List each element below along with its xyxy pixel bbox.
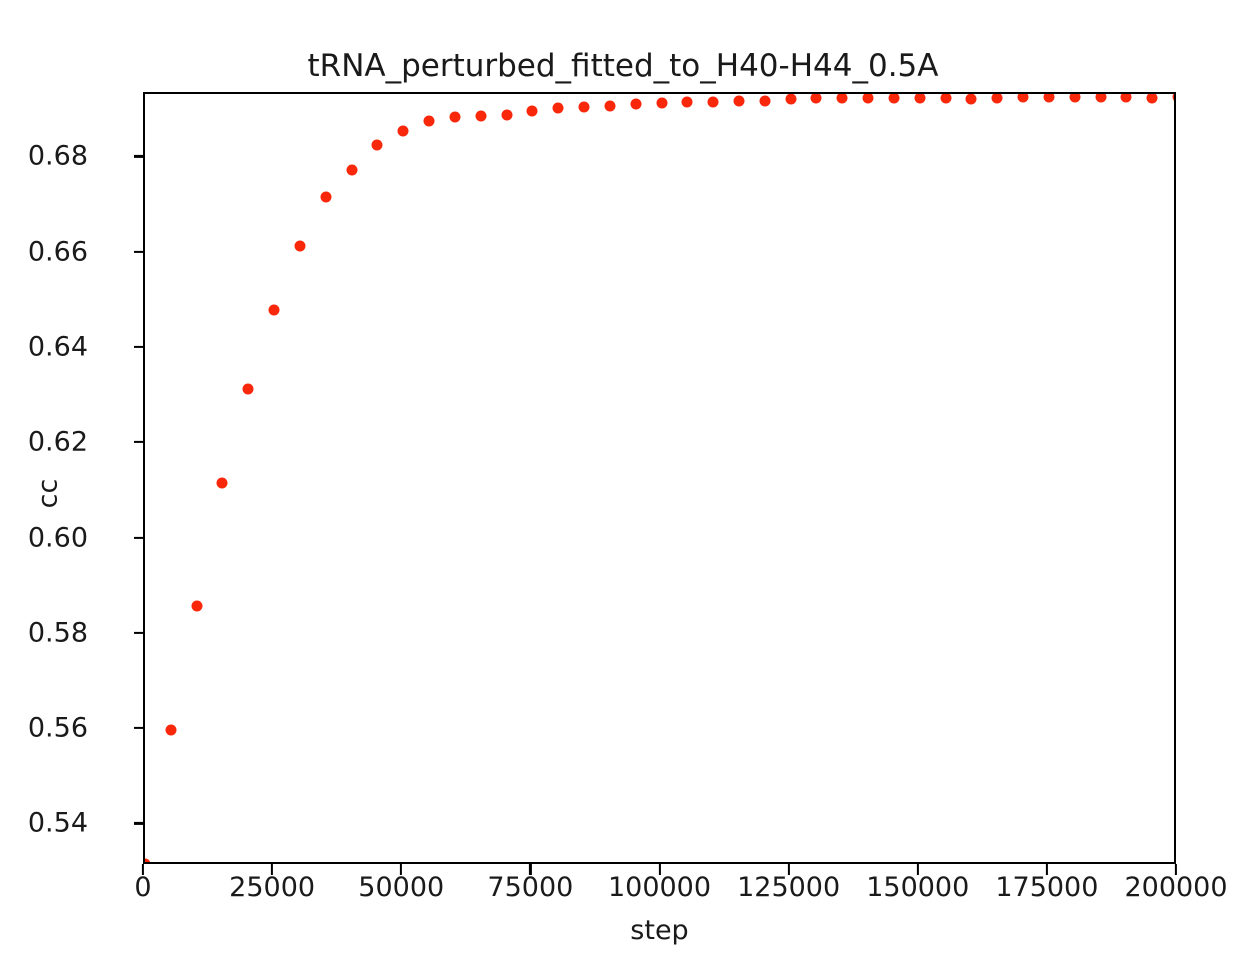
figure-canvas: tRNA_perturbed_fitted_to_H40-H44_0.5A cc… bbox=[0, 0, 1246, 965]
data-point bbox=[398, 126, 409, 137]
data-point bbox=[191, 600, 202, 611]
data-point bbox=[966, 93, 977, 104]
data-point bbox=[346, 165, 357, 176]
x-tick-mark bbox=[658, 864, 660, 875]
x-tick-label: 75000 bbox=[487, 872, 573, 903]
data-point bbox=[527, 105, 538, 116]
y-tick-mark bbox=[134, 822, 145, 824]
data-point bbox=[863, 92, 874, 103]
data-point bbox=[992, 92, 1003, 103]
y-tick-label: 0.54 bbox=[0, 808, 88, 839]
data-point bbox=[143, 858, 151, 864]
data-point bbox=[294, 240, 305, 251]
x-tick-mark bbox=[1046, 864, 1048, 875]
chart-title: tRNA_perturbed_fitted_to_H40-H44_0.5A bbox=[0, 48, 1246, 84]
data-point bbox=[1043, 92, 1054, 103]
data-point bbox=[708, 96, 719, 107]
y-tick-label: 0.60 bbox=[0, 522, 88, 553]
data-point bbox=[424, 115, 435, 126]
data-point bbox=[243, 383, 254, 394]
data-point bbox=[656, 97, 667, 108]
x-tick-label: 200000 bbox=[1124, 872, 1227, 903]
data-point bbox=[914, 92, 925, 103]
y-tick-mark bbox=[134, 727, 145, 729]
x-tick-label: 50000 bbox=[358, 872, 444, 903]
x-tick-mark bbox=[271, 864, 273, 875]
data-point bbox=[1173, 92, 1177, 103]
x-tick-mark bbox=[529, 864, 531, 875]
data-point bbox=[604, 100, 615, 111]
x-tick-label: 25000 bbox=[229, 872, 315, 903]
data-point bbox=[553, 102, 564, 113]
data-point bbox=[449, 112, 460, 123]
data-point bbox=[759, 96, 770, 107]
x-tick-mark bbox=[917, 864, 919, 875]
data-point bbox=[217, 477, 228, 488]
x-tick-mark bbox=[788, 864, 790, 875]
y-tick-label: 0.64 bbox=[0, 331, 88, 362]
data-point bbox=[630, 99, 641, 110]
data-point bbox=[320, 192, 331, 203]
y-tick-mark bbox=[134, 155, 145, 157]
x-tick-mark bbox=[1175, 864, 1177, 875]
data-point bbox=[1069, 92, 1080, 103]
data-point bbox=[501, 110, 512, 121]
x-tick-label: 175000 bbox=[995, 872, 1098, 903]
x-axis-label: step bbox=[0, 915, 1246, 946]
data-point bbox=[165, 724, 176, 735]
y-tick-mark bbox=[134, 346, 145, 348]
data-point bbox=[372, 139, 383, 150]
plot-area bbox=[143, 92, 1176, 864]
x-tick-label: 150000 bbox=[866, 872, 969, 903]
data-point bbox=[733, 96, 744, 107]
x-tick-mark bbox=[142, 864, 144, 875]
data-point bbox=[940, 92, 951, 103]
x-tick-label: 100000 bbox=[608, 872, 711, 903]
x-tick-label: 125000 bbox=[737, 872, 840, 903]
data-point bbox=[1095, 92, 1106, 103]
x-tick-mark bbox=[400, 864, 402, 875]
y-tick-label: 0.56 bbox=[0, 713, 88, 744]
data-point bbox=[579, 101, 590, 112]
data-point bbox=[1121, 92, 1132, 103]
y-tick-mark bbox=[134, 251, 145, 253]
y-tick-mark bbox=[134, 632, 145, 634]
y-tick-mark bbox=[134, 441, 145, 443]
y-tick-label: 0.66 bbox=[0, 236, 88, 267]
y-tick-mark bbox=[134, 536, 145, 538]
data-point bbox=[269, 304, 280, 315]
y-tick-label: 0.58 bbox=[0, 617, 88, 648]
data-point bbox=[785, 93, 796, 104]
data-point bbox=[1018, 92, 1029, 103]
data-point bbox=[1147, 92, 1158, 103]
y-tick-label: 0.62 bbox=[0, 427, 88, 458]
data-point bbox=[811, 92, 822, 103]
data-point bbox=[682, 97, 693, 108]
data-point bbox=[888, 92, 899, 103]
x-tick-label: 0 bbox=[134, 872, 151, 903]
data-point bbox=[475, 110, 486, 121]
data-point bbox=[837, 92, 848, 103]
y-tick-label: 0.68 bbox=[0, 141, 88, 172]
